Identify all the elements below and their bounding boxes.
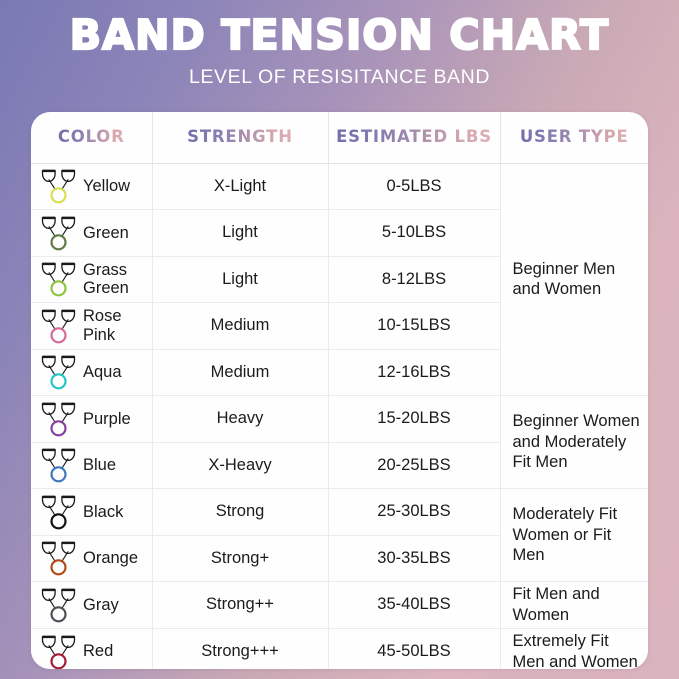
band-tension-table: COLORSTRENGTHESTIMATED LBSUSER TYPE Yell… [31,112,648,669]
band-color-name: Yellow [83,177,130,195]
resistance-band-icon [40,400,77,438]
cell-estimated-lbs: 25-30LBS [328,489,500,536]
cell-color: Blue [31,442,152,489]
page-subtitle: LEVEL OF RESISITANCE BAND [0,66,679,89]
resistance-band-icon [40,633,77,670]
cell-color: Purple [31,396,152,443]
table-header: COLORSTRENGTHESTIMATED LBSUSER TYPE [31,112,648,163]
resistance-band-icon [40,307,77,345]
resistance-band-icon [40,260,77,298]
color-cell-inner: Purple [40,400,152,438]
resistance-band-icon [40,586,77,624]
cell-strength: Strong+ [152,535,328,582]
band-color-name: Orange [83,549,138,567]
resistance-band-icon [40,214,77,252]
band-color-name: Green [83,224,129,242]
cell-color: Gray [31,582,152,629]
band-tension-table-card: COLORSTRENGTHESTIMATED LBSUSER TYPE Yell… [31,112,648,669]
resistance-band-icon [40,493,77,531]
color-cell-inner: Green [40,214,152,252]
band-color-name: Blue [83,456,116,474]
column-header-strength: STRENGTH [152,112,328,163]
cell-color: Yellow [31,163,152,210]
column-header-label: COLOR [58,127,125,146]
band-color-name: Purple [83,410,131,428]
color-cell-inner: Yellow [40,167,152,205]
band-color-name: GrassGreen [83,261,129,298]
column-header-user: USER TYPE [500,112,648,163]
cell-estimated-lbs: 35-40LBS [328,582,500,629]
cell-strength: Light [152,256,328,303]
table-row: PurpleHeavy15-20LBSBeginner Womenand Mod… [31,396,648,443]
table-row: RedStrong+++45-50LBSExtremely FitMen and… [31,628,648,669]
cell-color: GrassGreen [31,256,152,303]
cell-estimated-lbs: 30-35LBS [328,535,500,582]
cell-estimated-lbs: 20-25LBS [328,442,500,489]
user-type-label: Moderately FitWomen or Fit Men [513,504,643,565]
cell-user-type: Fit Men and Women [500,582,648,629]
band-color-name: Black [83,503,123,521]
color-cell-inner: Orange [40,539,152,577]
cell-estimated-lbs: 12-16LBS [328,349,500,396]
cell-user-type: Extremely FitMen and Women [500,628,648,669]
color-cell-inner: Blue [40,446,152,484]
resistance-band-icon [40,353,77,391]
cell-color: RosePink [31,303,152,350]
cell-estimated-lbs: 5-10LBS [328,210,500,257]
cell-estimated-lbs: 45-50LBS [328,628,500,669]
cell-user-type: Beginner Womenand ModeratelyFit Men [500,396,648,489]
cell-strength: X-Light [152,163,328,210]
cell-strength: Medium [152,349,328,396]
cell-strength: Strong++ [152,582,328,629]
page-title: BAND TENSION CHART [0,14,679,57]
cell-strength: Strong+++ [152,628,328,669]
chart-header: BAND TENSION CHART LEVEL OF RESISITANCE … [0,0,679,89]
user-type-label: Extremely FitMen and Women [513,631,643,669]
cell-strength: Light [152,210,328,257]
band-color-name: Aqua [83,363,122,381]
cell-color: Orange [31,535,152,582]
resistance-band-icon [40,446,77,484]
color-cell-inner: Black [40,493,152,531]
table-header-row: COLORSTRENGTHESTIMATED LBSUSER TYPE [31,112,648,163]
user-type-label: Beginner Menand Women [513,259,643,300]
cell-color: Aqua [31,349,152,396]
band-color-name: Red [83,642,113,660]
column-header-label: STRENGTH [187,127,293,146]
color-cell-inner: GrassGreen [40,260,152,298]
column-header-color: COLOR [31,112,152,163]
color-cell-inner: Aqua [40,353,152,391]
user-type-label: Fit Men and Women [513,584,643,625]
cell-strength: Strong [152,489,328,536]
cell-color: Red [31,628,152,669]
cell-estimated-lbs: 0-5LBS [328,163,500,210]
resistance-band-icon [40,539,77,577]
cell-estimated-lbs: 10-15LBS [328,303,500,350]
cell-user-type: Beginner Menand Women [500,163,648,396]
band-color-name: RosePink [83,307,122,344]
cell-estimated-lbs: 15-20LBS [328,396,500,443]
user-type-label: Beginner Womenand ModeratelyFit Men [513,411,643,472]
cell-strength: Heavy [152,396,328,443]
cell-color: Black [31,489,152,536]
table-row: BlackStrong25-30LBSModerately FitWomen o… [31,489,648,536]
cell-user-type: Moderately FitWomen or Fit Men [500,489,648,582]
color-cell-inner: Gray [40,586,152,624]
resistance-band-icon [40,167,77,205]
cell-color: Green [31,210,152,257]
color-cell-inner: Red [40,633,152,670]
cell-estimated-lbs: 8-12LBS [328,256,500,303]
table-row: GrayStrong++35-40LBSFit Men and Women [31,582,648,629]
cell-strength: X-Heavy [152,442,328,489]
table-row: YellowX-Light0-5LBSBeginner Menand Women [31,163,648,210]
column-header-label: USER TYPE [520,127,629,146]
column-header-label: ESTIMATED LBS [336,127,492,146]
band-color-name: Gray [83,596,119,614]
cell-strength: Medium [152,303,328,350]
color-cell-inner: RosePink [40,307,152,345]
column-header-lbs: ESTIMATED LBS [328,112,500,163]
table-body: YellowX-Light0-5LBSBeginner Menand Women… [31,163,648,669]
